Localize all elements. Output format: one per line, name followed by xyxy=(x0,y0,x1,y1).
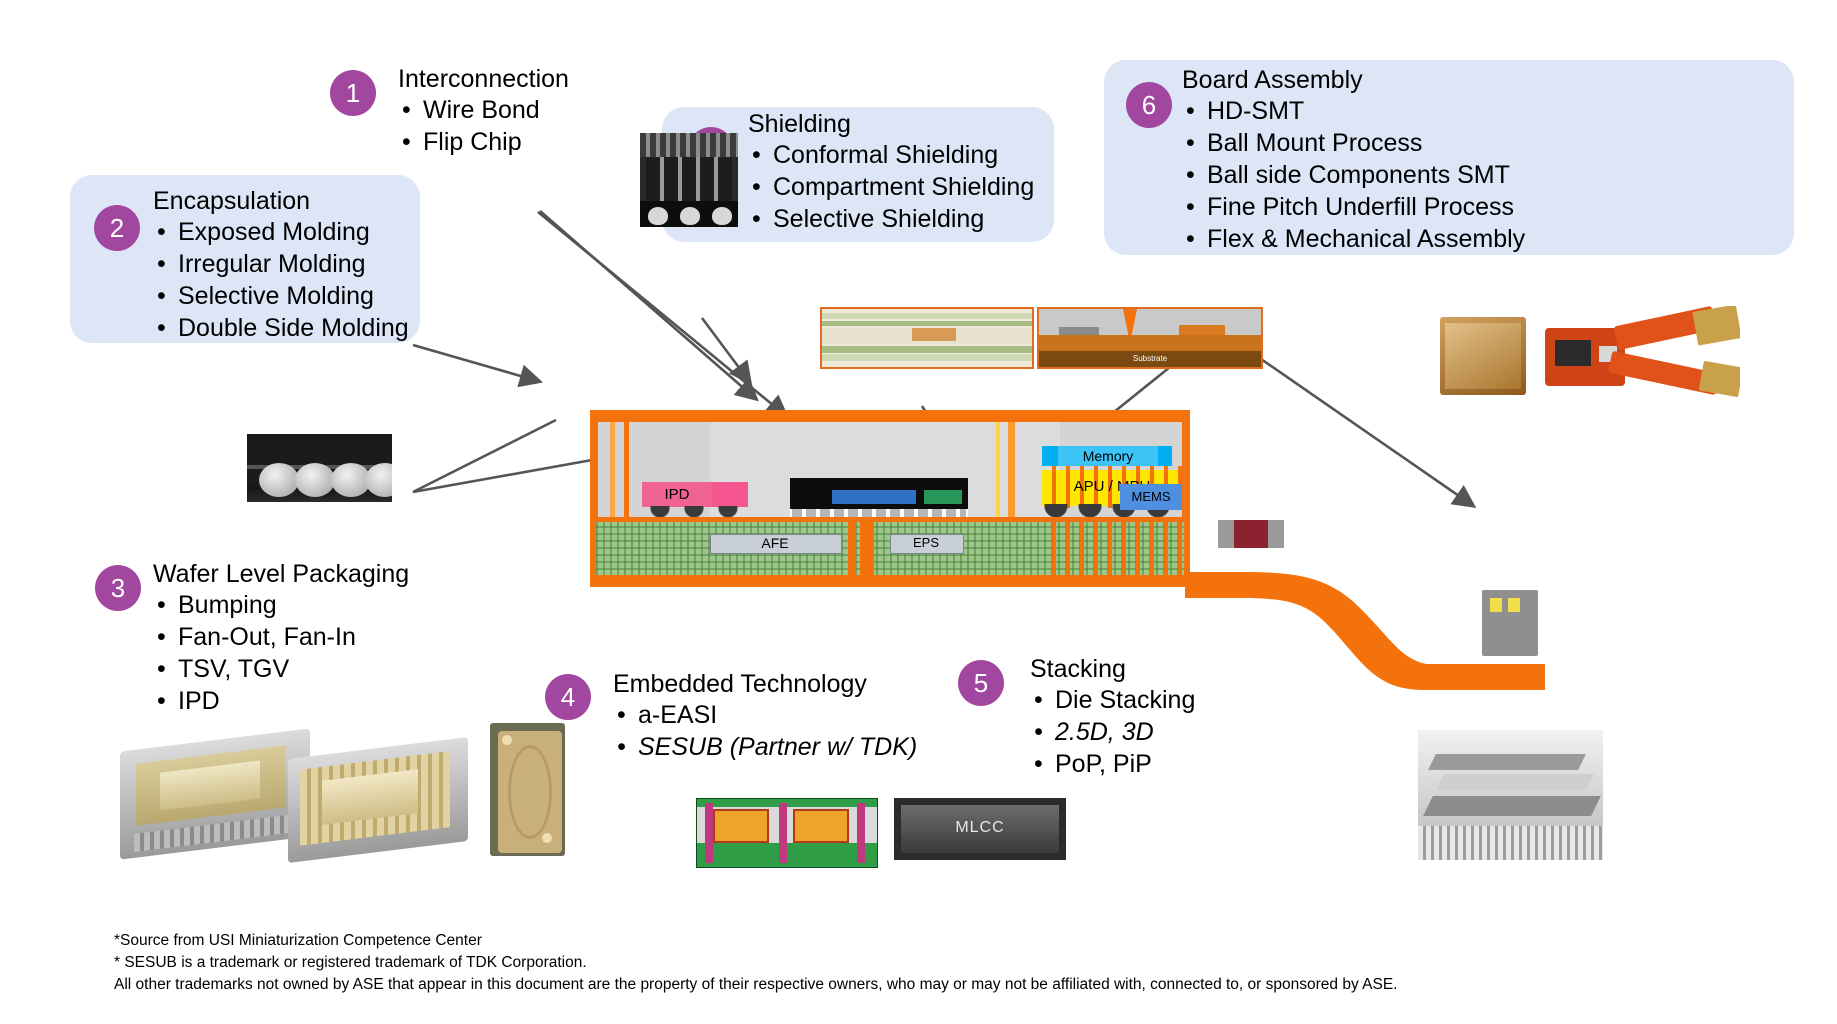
flex-cable-graphic xyxy=(0,0,1837,1024)
slide-canvas: 1 Interconnection Wire Bond Flip Chip 2 … xyxy=(0,0,1837,1024)
footnote-2: * SESUB is a trademark or registered tra… xyxy=(114,952,587,974)
footnote-1: *Source from USI Miniaturization Compete… xyxy=(114,930,482,952)
flex-connector xyxy=(1482,590,1538,656)
smt-component-body xyxy=(1234,520,1268,548)
footnote-3: All other trademarks not owned by ASE th… xyxy=(114,974,1397,996)
